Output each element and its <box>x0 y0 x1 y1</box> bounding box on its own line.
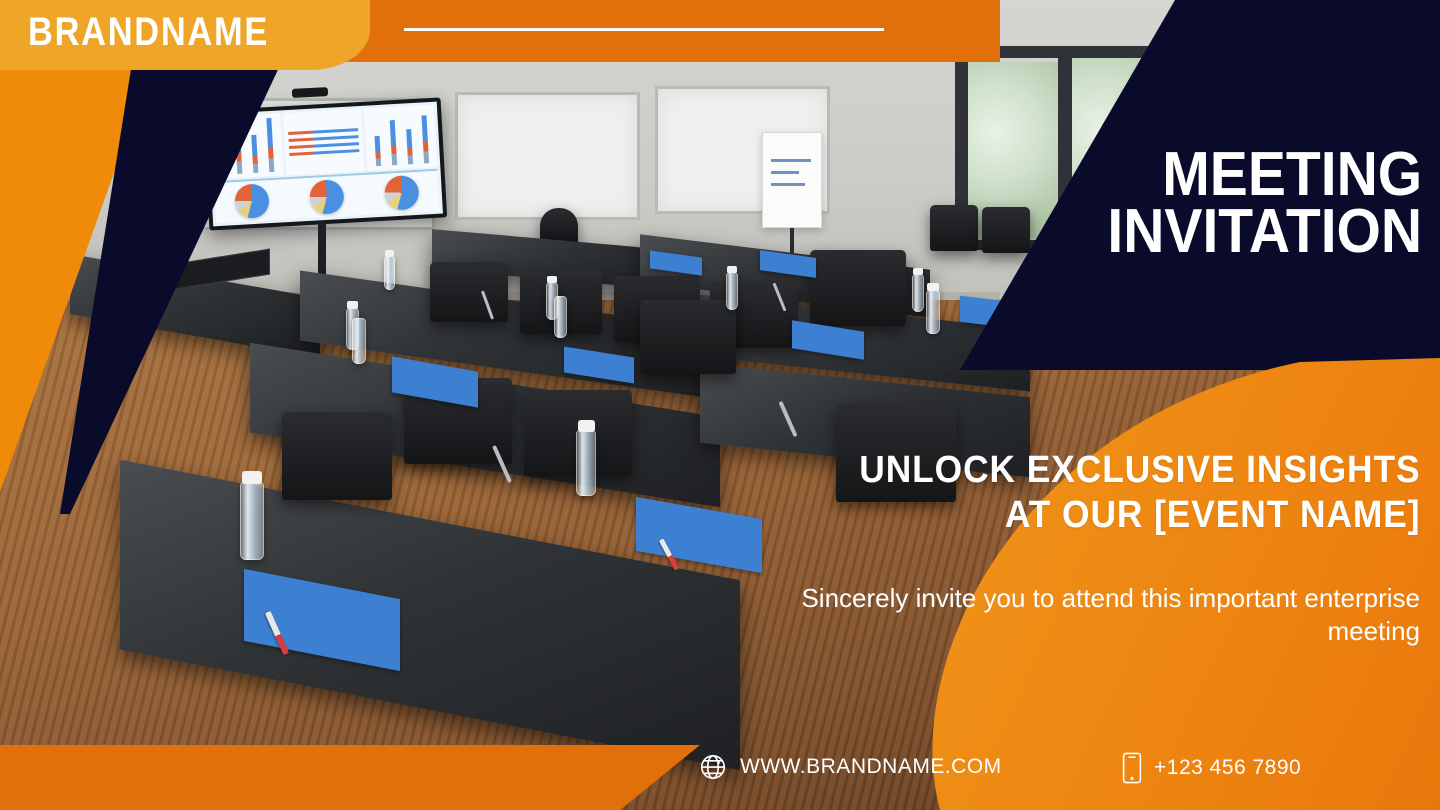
page-title: MEETING INVITATION <box>1107 146 1422 260</box>
bottle-1 <box>384 256 395 290</box>
bottle-cap-4 <box>913 268 923 275</box>
brand-logo-text: BRANDNAME <box>28 12 269 52</box>
bottle-3 <box>726 272 738 310</box>
globe-icon <box>698 752 728 782</box>
bottle-7 <box>926 290 940 334</box>
dashboard-pie-1 <box>234 183 270 219</box>
bottle-6 <box>554 296 567 338</box>
bottle-cap-3 <box>727 266 737 273</box>
screen-camera <box>292 87 328 98</box>
bottle-9 <box>576 430 596 496</box>
rear-chair-1 <box>930 205 978 251</box>
flipchart-board <box>762 132 822 228</box>
bottle-cap-2 <box>547 276 557 283</box>
chair-5 <box>810 250 906 326</box>
header-rule <box>404 28 884 31</box>
bottle-cap-7 <box>927 283 939 291</box>
bottle-cap-5 <box>347 301 358 309</box>
bottle-cap-9 <box>578 420 595 432</box>
rear-chair-2 <box>982 207 1030 253</box>
bottle-10 <box>240 482 264 560</box>
bottle-8 <box>352 318 366 364</box>
footer-orange-bar <box>0 745 700 810</box>
headline-line1: UNLOCK EXCLUSIVE INSIGHTS <box>859 448 1420 493</box>
chair-9 <box>640 300 736 374</box>
chair-6 <box>282 412 392 500</box>
headline: UNLOCK EXCLUSIVE INSIGHTS AT OUR [EVENT … <box>859 448 1420 538</box>
mobile-phone-icon <box>1122 752 1142 784</box>
dashboard-bar-chart-2 <box>364 105 437 171</box>
footer-phone[interactable]: +123 456 7890 <box>1122 752 1301 784</box>
dashboard-kpi-list <box>283 109 365 175</box>
bottle-4 <box>912 274 924 312</box>
whiteboard-center <box>455 92 640 220</box>
dashboard-pie-3 <box>383 175 419 211</box>
page-title-line2: INVITATION <box>1107 203 1422 260</box>
bottle-cap-1 <box>385 250 394 257</box>
page-title-line1: MEETING <box>1107 146 1422 203</box>
headline-line2: AT OUR [EVENT NAME] <box>859 493 1420 538</box>
footer-website-label: WWW.BRANDNAME.COM <box>740 755 1002 779</box>
dashboard-pie-2 <box>309 179 345 215</box>
bottle-cap-10 <box>242 471 262 484</box>
footer-phone-label: +123 456 7890 <box>1154 756 1301 780</box>
meeting-invitation-poster: BRANDNAME MEETING INVITATION UNLOCK EXCL… <box>0 0 1440 810</box>
footer-website[interactable]: WWW.BRANDNAME.COM <box>698 752 1002 782</box>
chair-1 <box>430 262 508 322</box>
subcopy-text: Sincerely invite you to attend this impo… <box>780 582 1420 648</box>
